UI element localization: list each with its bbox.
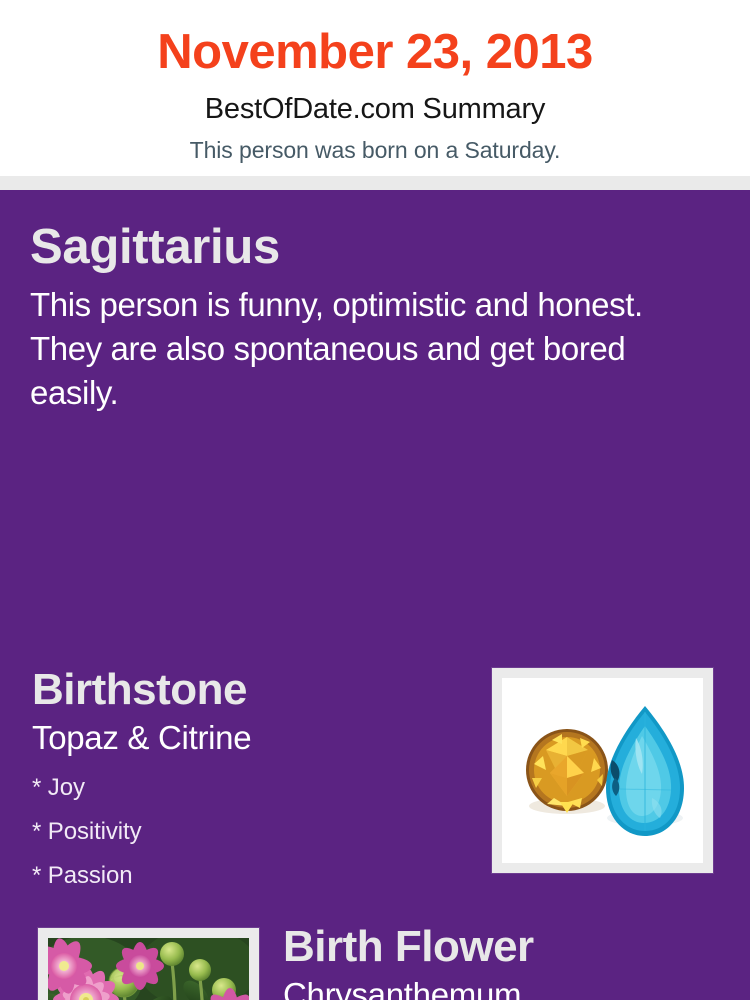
zodiac-description: This person is funny, optimistic and hon… xyxy=(30,283,722,415)
summary-page: November 23, 2013 BestOfDate.com Summary… xyxy=(0,0,750,1000)
birth-flower-section: Birth Flower Chrysanthemum * Loyalty * H… xyxy=(283,925,733,1000)
birthstone-names: Topaz & Citrine xyxy=(32,720,472,756)
site-subtitle: BestOfDate.com Summary xyxy=(0,77,750,124)
header-divider xyxy=(0,176,750,190)
birthstone-image xyxy=(502,678,703,863)
day-of-week-line: This person was born on a Saturday. xyxy=(0,124,750,162)
birth-flower-title: Birth Flower xyxy=(283,925,733,969)
zodiac-section: Sagittarius This person is funny, optimi… xyxy=(30,222,722,415)
birthstone-section: Birthstone Topaz & Citrine * Joy * Posit… xyxy=(32,668,472,888)
content-panel: Sagittarius This person is funny, optimi… xyxy=(0,190,750,1000)
birthstone-title: Birthstone xyxy=(32,668,472,712)
birth-flower-name: Chrysanthemum xyxy=(283,977,733,1000)
gemstones-icon xyxy=(502,678,703,863)
page-title-date: November 23, 2013 xyxy=(0,0,750,77)
birthstone-trait: * Joy xyxy=(32,776,472,800)
birth-flower-image-frame xyxy=(38,928,259,1000)
chrysanthemum-flowers-icon xyxy=(48,938,249,1000)
zodiac-sign-name: Sagittarius xyxy=(30,222,722,273)
birthstone-trait: * Positivity xyxy=(32,820,472,844)
page-header: November 23, 2013 BestOfDate.com Summary… xyxy=(0,0,750,176)
birthstone-trait: * Passion xyxy=(32,864,472,888)
birthstone-image-frame xyxy=(492,668,713,873)
birth-flower-image xyxy=(48,938,249,1000)
